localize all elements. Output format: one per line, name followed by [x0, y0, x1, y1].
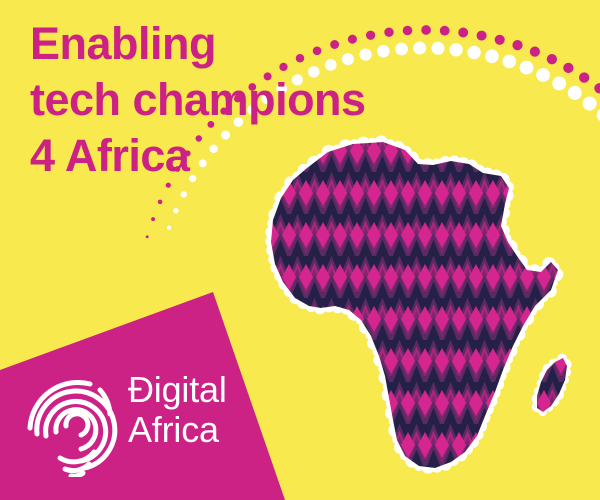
logo-panel[interactable]: Đigital Africa	[0, 270, 300, 500]
africa-landmass	[255, 130, 600, 500]
africa-map-illustration	[255, 130, 600, 500]
fingerprint-icon	[24, 362, 126, 477]
logo-wordmark: Đigital Africa	[128, 370, 227, 450]
logo-wordmark-line-1: Đigital	[128, 370, 227, 410]
logo-wordmark-line-2: Africa	[128, 410, 227, 450]
digital-africa-banner-ad[interactable]: Enabling tech champions 4 Africa	[0, 0, 600, 500]
madagascar-island	[532, 354, 572, 417]
